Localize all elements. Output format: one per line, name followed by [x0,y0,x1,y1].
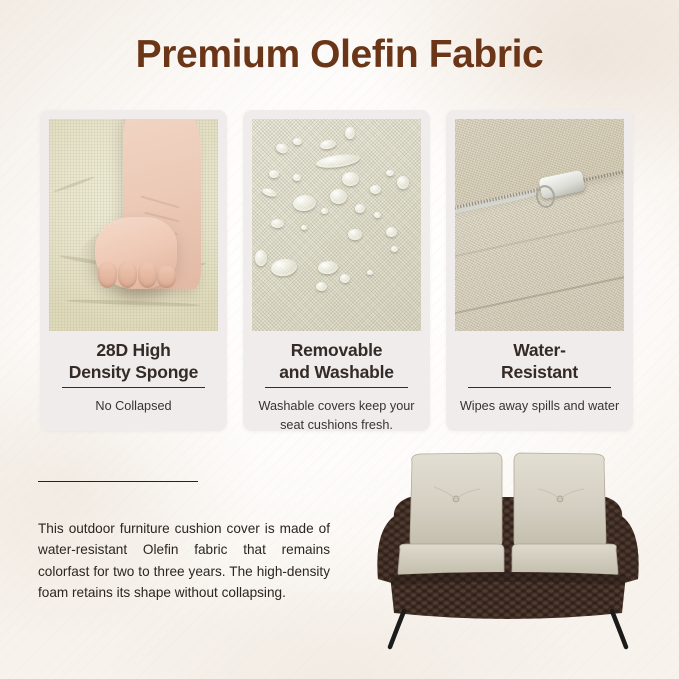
feature-card-title-line1: 28D High [96,340,170,360]
section-divider [38,481,198,482]
feature-card-subtitle: Washable covers keep your seat cushions … [251,397,422,435]
fist-pressing-cushion-photo [49,119,218,331]
card-divider [265,387,408,388]
feature-card-title: Removable and Washable [253,339,420,383]
feature-card-title-line2: Density Sponge [69,362,198,382]
feature-card-water-resistant: Water- Resistant Wipes away spills and w… [446,110,633,431]
feature-card-title-line1: Water- [513,340,566,360]
feature-card-subtitle: No Collapsed [48,397,219,416]
description-paragraph: This outdoor furniture cushion cover is … [38,518,330,604]
open-zipper-on-cushion-photo [455,119,624,331]
feature-card-title-line2: and Washable [279,362,394,382]
page-title: Premium Olefin Fabric [0,33,679,77]
feature-card-title-line1: Removable [291,340,383,360]
card-divider [62,387,205,388]
feature-card-title: 28D High Density Sponge [50,339,217,383]
feature-card-subtitle: Wipes away spills and water [454,397,625,416]
feature-card-title-line2: Resistant [501,362,578,382]
card-divider [468,387,611,388]
feature-card-washable: Removable and Washable Washable covers k… [243,110,430,431]
water-droplets-on-fabric-photo [252,119,421,331]
feature-card-title: Water- Resistant [456,339,623,383]
feature-card-sponge: 28D High Density Sponge No Collapsed [40,110,227,431]
infographic-page: Premium Olefin Fabric [0,0,679,679]
wicker-loveseat-image [372,445,644,651]
